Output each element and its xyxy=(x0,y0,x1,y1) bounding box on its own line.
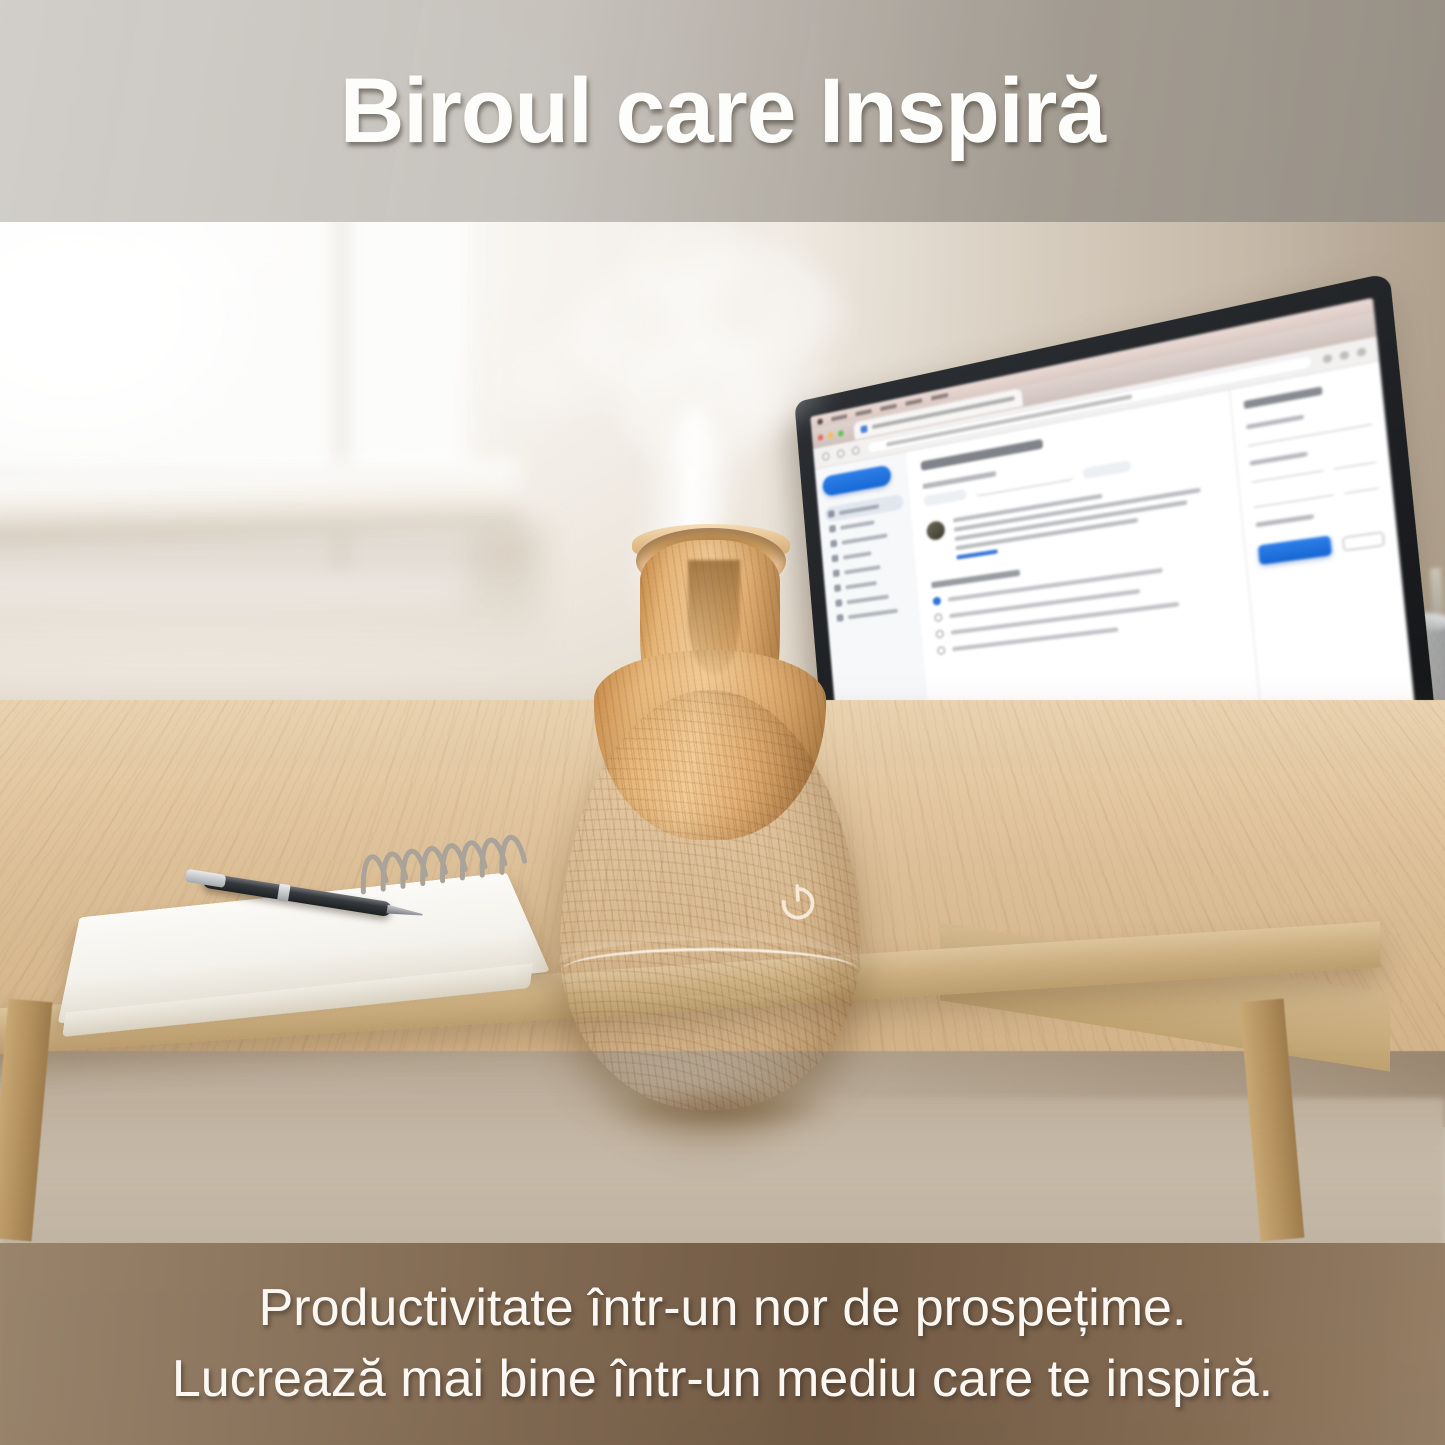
caption-line-2: Lucrează mai bine într-un mediu care te … xyxy=(172,1348,1273,1411)
apple-logo-icon xyxy=(817,418,823,425)
radio-selected-icon xyxy=(933,596,942,605)
primary-button xyxy=(1258,535,1332,565)
diffuser-light-ring xyxy=(562,948,858,992)
panel-input xyxy=(1343,478,1378,494)
secondary-button xyxy=(1342,531,1385,551)
panel-heading xyxy=(1244,386,1323,409)
panel-field-row xyxy=(1253,478,1379,508)
headline-band: Biroul care Inspiră xyxy=(0,0,1445,222)
product-poster: Biroul care Inspiră Productivitate într-… xyxy=(0,0,1445,1445)
radio-icon xyxy=(934,613,943,622)
overflow-menu-icon xyxy=(1356,346,1366,356)
extensions-icon xyxy=(1322,353,1332,363)
menu-item xyxy=(931,392,948,400)
power-button[interactable] xyxy=(774,877,822,925)
zoom-window-icon xyxy=(838,430,844,437)
radio-icon xyxy=(937,646,946,655)
panel-input xyxy=(1247,414,1372,446)
forward-arrow-icon xyxy=(837,449,845,458)
panel-field-label xyxy=(1256,514,1314,527)
diffuser-rim-fold xyxy=(688,560,740,675)
section-heading xyxy=(931,569,1020,588)
panel-input xyxy=(1253,485,1334,508)
page-title: Biroul care Inspiră xyxy=(340,59,1105,164)
inline-link xyxy=(956,549,998,559)
app-right-panel xyxy=(1229,361,1418,745)
chip xyxy=(924,489,967,507)
menu-item xyxy=(880,403,897,410)
window-sill-shadow xyxy=(0,528,540,648)
menu-item xyxy=(831,414,847,421)
chip xyxy=(1083,460,1131,479)
panel-input xyxy=(1251,461,1324,483)
body-line xyxy=(955,500,1188,541)
minimize-window-icon xyxy=(828,432,834,439)
pen-tip xyxy=(386,905,423,920)
radio-icon xyxy=(935,629,944,638)
menu-item xyxy=(855,408,871,415)
panel-actions xyxy=(1258,528,1385,565)
compose-button xyxy=(822,464,892,496)
caption-band: Productivitate într-un nor de prospețime… xyxy=(0,1243,1445,1445)
back-arrow-icon xyxy=(822,452,830,461)
browser-toolbar-icons xyxy=(1322,346,1366,363)
panel-input xyxy=(1333,452,1376,469)
caption-line-1: Productivitate într-un nor de prospețime… xyxy=(259,1277,1187,1340)
aroma-diffuser xyxy=(520,500,900,1120)
profile-avatar-icon xyxy=(1339,350,1349,360)
favicon-icon xyxy=(860,425,867,433)
menu-item xyxy=(905,398,922,406)
pen-clip xyxy=(185,869,227,888)
reload-icon xyxy=(852,446,860,455)
avatar xyxy=(926,520,946,541)
close-window-icon xyxy=(817,434,823,441)
